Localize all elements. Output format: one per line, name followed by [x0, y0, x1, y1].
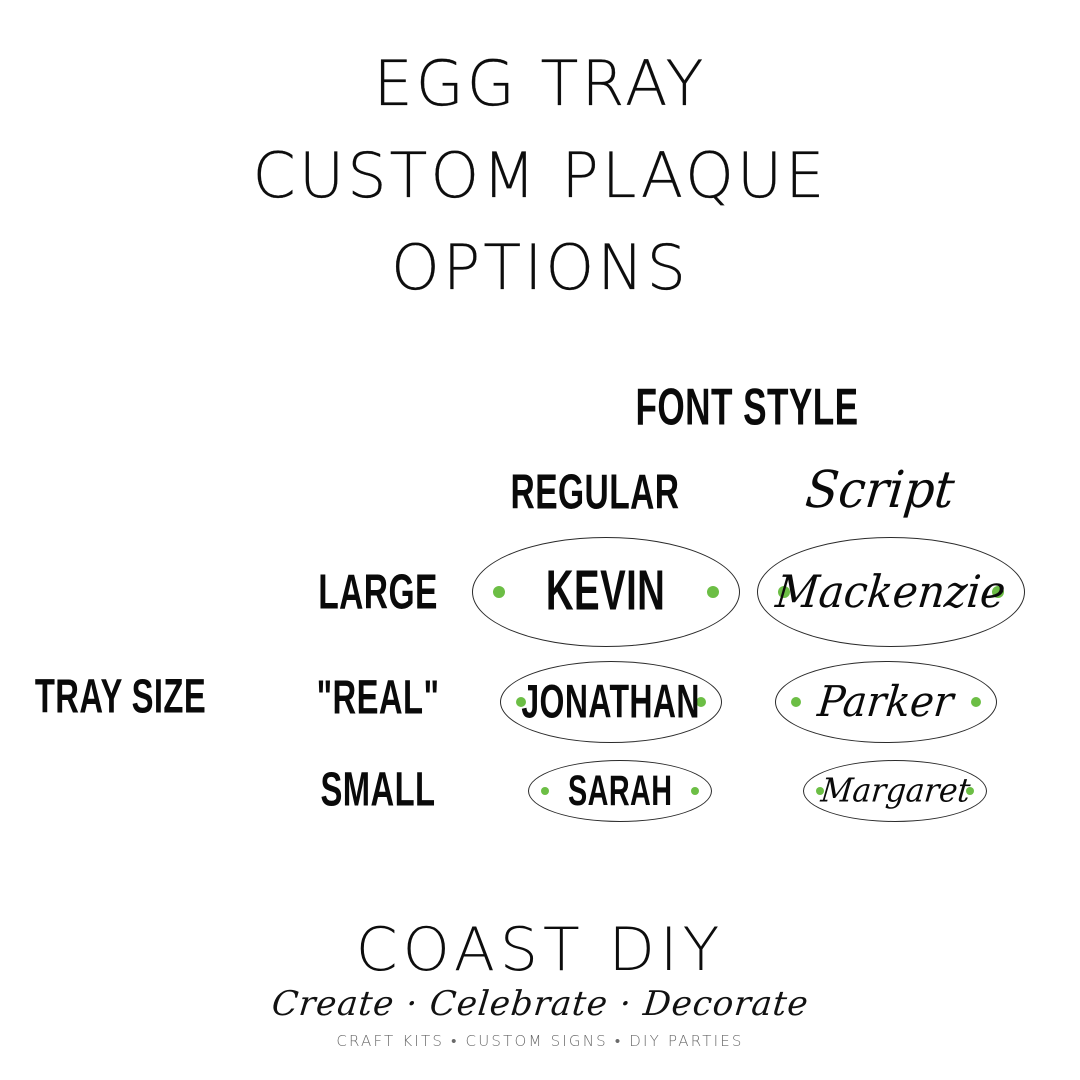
- plaque-name: Margaret: [813, 775, 977, 808]
- screw-dot-icon: [707, 586, 719, 598]
- plaque-large-script[interactable]: Mackenzie: [757, 537, 1025, 647]
- plaque-name: KEVIN: [542, 564, 671, 621]
- brand-name: COAST DIY: [0, 918, 1080, 982]
- row-label-large: LARGE: [306, 564, 450, 621]
- row-label-real: "REAL": [306, 670, 450, 725]
- page-title-line-2: CUSTOM PLAQUE: [0, 130, 1080, 222]
- plaque-name: Mackenzie: [768, 570, 1014, 615]
- plaque-small-script[interactable]: Margaret: [803, 760, 987, 822]
- plaque-name: SARAH: [563, 770, 677, 812]
- plaque-name: JONATHAN: [517, 678, 705, 725]
- plaque-real-regular[interactable]: JONATHAN: [500, 661, 722, 743]
- column-header-regular: REGULAR: [483, 464, 707, 521]
- page-title: EGG TRAY CUSTOM PLAQUE OPTIONS: [0, 38, 1080, 314]
- screw-dot-icon: [541, 787, 549, 795]
- plaque-small-regular[interactable]: SARAH: [528, 760, 712, 822]
- column-header-script: Script: [737, 460, 1023, 519]
- poster-canvas: EGG TRAY CUSTOM PLAQUE OPTIONS FONT STYL…: [0, 0, 1080, 1080]
- plaque-large-regular[interactable]: KEVIN: [472, 537, 740, 647]
- plaque-name: Parker: [810, 681, 962, 723]
- brand-tagline-services: CRAFT KITS • CUSTOM SIGNS • DIY PARTIES: [0, 1032, 1080, 1050]
- tray-size-axis-label: TRAY SIZE: [31, 669, 211, 724]
- row-label-small: SMALL: [306, 762, 450, 817]
- page-title-line-1: EGG TRAY: [0, 38, 1080, 130]
- screw-dot-icon: [691, 787, 699, 795]
- screw-dot-icon: [971, 697, 981, 707]
- page-title-line-3: OPTIONS: [0, 222, 1080, 314]
- brand-logo: COAST DIY Create · Celebrate · Decorate …: [0, 918, 1080, 1050]
- brand-tagline-script: Create · Celebrate · Decorate: [269, 982, 810, 1026]
- font-style-axis-label: FONT STYLE: [627, 379, 867, 438]
- screw-dot-icon: [493, 586, 505, 598]
- plaque-real-script[interactable]: Parker: [775, 661, 997, 743]
- screw-dot-icon: [791, 697, 801, 707]
